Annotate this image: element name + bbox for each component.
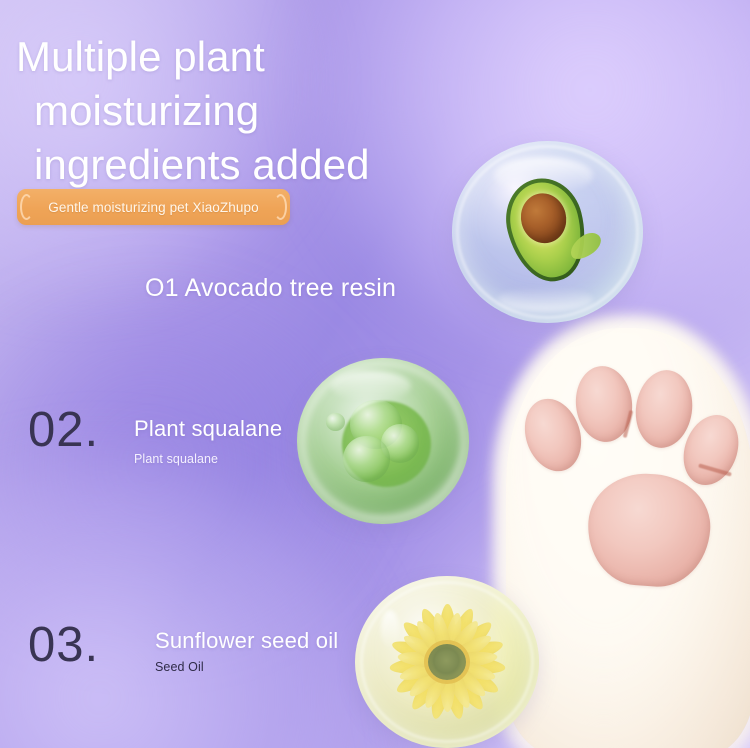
ingredient-item-3: 03. Sunflower seed oil Seed Oil [0, 0, 750, 748]
ingredient-3-subtitle: Seed Oil [155, 660, 204, 674]
promo-poster: Multiple plant moisturizing ingredients … [0, 0, 750, 748]
ingredient-3-title: Sunflower seed oil [155, 628, 338, 654]
ingredient-3-number: 03. [28, 621, 99, 670]
